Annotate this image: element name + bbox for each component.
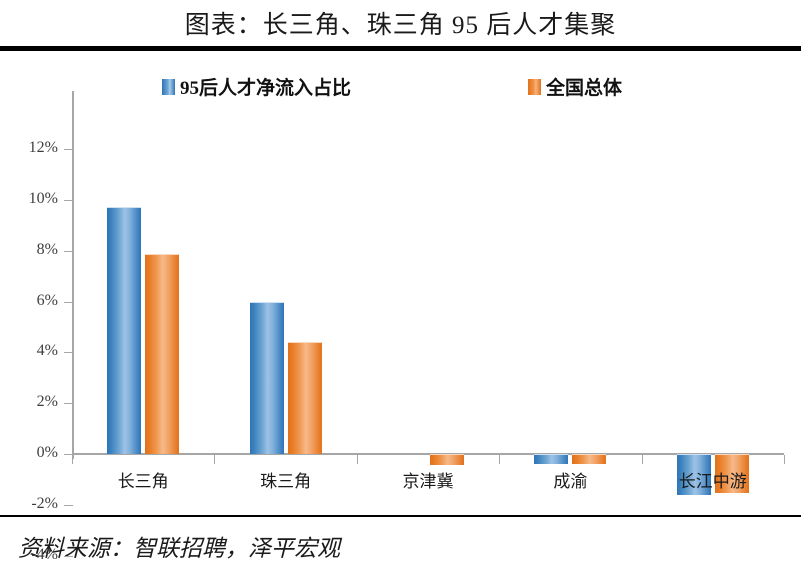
title-block: 图表：长三角、珠三角 95 后人才集聚	[0, 0, 801, 46]
x-axis-tick	[357, 455, 358, 464]
page-title: 图表：长三角、珠三角 95 后人才集聚	[185, 5, 617, 41]
y-axis-tick	[64, 352, 73, 353]
y-axis-tick-label: 0%	[0, 445, 58, 461]
legend-label-net-inflow: 95后人才净流入占比	[180, 73, 351, 100]
x-axis-category-label: 珠三角	[214, 467, 356, 492]
bar-national-total[interactable]	[145, 254, 179, 454]
x-axis-tick	[72, 455, 73, 464]
y-axis-tick-label: 6%	[0, 293, 58, 309]
footer-block: 资料来源：智联招聘，泽平宏观	[0, 517, 801, 575]
chart-legend: 95后人才净流入占比 全国总体	[0, 73, 801, 101]
y-axis-tick-label: -4%	[0, 547, 58, 563]
bar-net-inflow[interactable]	[107, 207, 141, 454]
legend-item-net-inflow[interactable]: 95后人才净流入占比	[162, 73, 351, 100]
x-axis-tick	[642, 455, 643, 464]
legend-item-national-total[interactable]: 全国总体	[528, 73, 622, 100]
y-axis-tick	[64, 556, 73, 557]
source-note: 资料来源：智联招聘，泽平宏观	[18, 529, 340, 563]
y-axis-tick-label: 8%	[0, 242, 58, 258]
chart-area: 95后人才净流入占比 全国总体 12%10%8%6%4%2%0%-2%-4% 长…	[0, 51, 801, 515]
legend-swatch-orange-icon	[528, 79, 541, 95]
x-axis-category-label: 成渝	[499, 467, 641, 492]
y-axis-tick	[64, 403, 73, 404]
y-axis-tick	[64, 505, 73, 506]
bar-national-total[interactable]	[572, 454, 606, 464]
y-axis-tick-label: -2%	[0, 496, 58, 512]
legend-label-national-total: 全国总体	[546, 73, 622, 100]
y-axis-tick-label: 12%	[0, 140, 58, 156]
legend-swatch-blue-icon	[162, 79, 175, 95]
x-axis-category-label: 长江中游	[642, 467, 784, 492]
y-axis-tick-label: 2%	[0, 394, 58, 410]
y-axis-tick	[64, 302, 73, 303]
x-axis-category-label: 长三角	[72, 467, 214, 492]
y-axis-tick	[64, 149, 73, 150]
bar-national-total[interactable]	[288, 342, 322, 454]
y-axis-tick	[64, 251, 73, 252]
x-axis-tick	[784, 455, 785, 464]
y-axis-tick-label: 10%	[0, 191, 58, 207]
bar-national-total[interactable]	[430, 454, 464, 465]
x-axis-category-label: 京津冀	[357, 467, 499, 492]
bar-net-inflow[interactable]	[534, 454, 568, 464]
y-axis-tick	[64, 200, 73, 201]
x-axis-tick	[499, 455, 500, 464]
bar-net-inflow[interactable]	[250, 302, 284, 455]
x-axis-tick	[214, 455, 215, 464]
y-axis-tick-label: 4%	[0, 343, 58, 359]
